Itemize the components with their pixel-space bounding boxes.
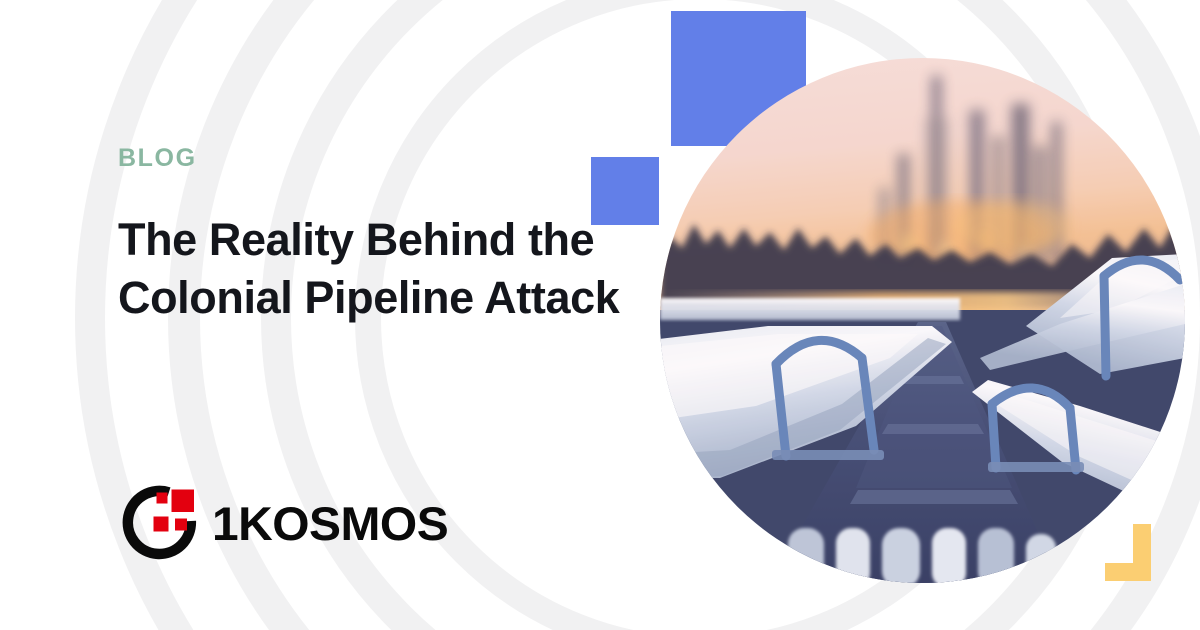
brand-lockup[interactable]: 1KOSMOS <box>120 483 444 563</box>
1kosmos-ring-icon <box>120 483 198 563</box>
brand-wordmark: 1KOSMOS <box>212 500 448 547</box>
hero-photo-pipeline <box>660 58 1185 583</box>
eyebrow-label: BLOG <box>118 146 658 171</box>
social-share-card: BLOG The Reality Behind the Colonial Pip… <box>0 0 1200 630</box>
page-title: The Reality Behind the Colonial Pipeline… <box>118 211 638 326</box>
yellow-corner-bracket-icon <box>1105 524 1151 581</box>
card-text-block: BLOG The Reality Behind the Colonial Pip… <box>118 146 658 326</box>
